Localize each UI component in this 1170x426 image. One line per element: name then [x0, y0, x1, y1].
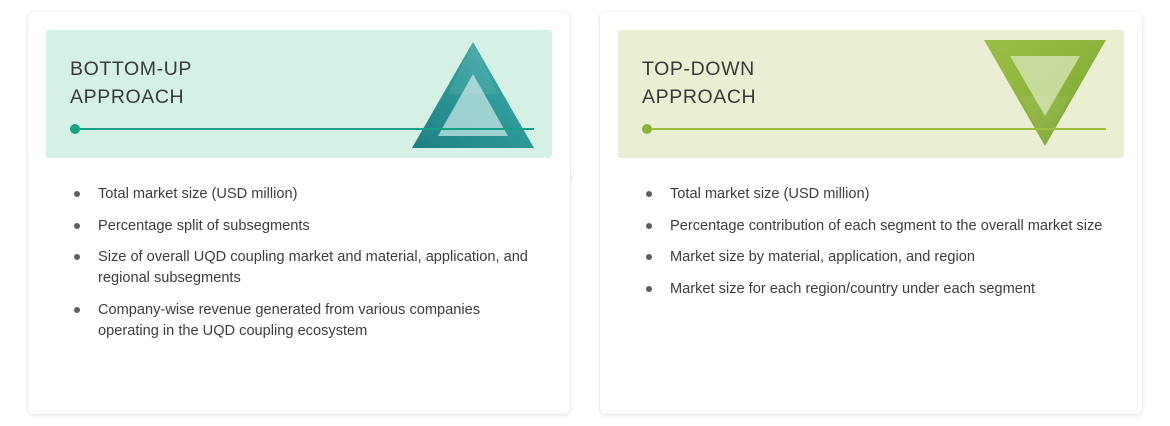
rule-dot-icon	[642, 124, 652, 134]
panel-rule-top-down	[642, 124, 1106, 134]
rule-line	[80, 128, 534, 130]
list-item: Market size for each region/country unde…	[646, 279, 1114, 300]
panel-title-top-down: TOP-DOWN APPROACH	[642, 56, 972, 111]
bullet-icon	[74, 191, 80, 197]
list-item-label: Market size for each region/country unde…	[670, 281, 1035, 297]
triangle-up-icon	[408, 36, 538, 152]
panel-bottom-up: BOTTOM-UP APPROACH Total market size (US…	[28, 12, 570, 414]
list-item-label: Size of overall UQD coupling market and …	[98, 249, 528, 286]
bullet-icon	[646, 223, 652, 229]
bullet-icon	[646, 254, 652, 260]
bullet-icon	[74, 307, 80, 313]
panel-title-bottom-up: BOTTOM-UP APPROACH	[70, 56, 400, 111]
list-item-label: Company-wise revenue generated from vari…	[98, 302, 480, 339]
list-item: Total market size (USD million)	[646, 184, 1114, 205]
list-item: Company-wise revenue generated from vari…	[74, 300, 542, 341]
triangle-down-icon	[980, 36, 1110, 152]
list-item: Market size by material, application, an…	[646, 247, 1114, 268]
list-item: Percentage contribution of each segment …	[646, 216, 1114, 237]
rule-dot-icon	[70, 124, 80, 134]
panel-rule-bottom-up	[70, 124, 534, 134]
list-bottom-up: Total market size (USD million) Percenta…	[46, 158, 552, 352]
list-top-down: Total market size (USD million) Percenta…	[618, 158, 1124, 311]
diagram-canvas: BOTTOM-UP APPROACH Total market size (US…	[0, 0, 1170, 426]
list-item-label: Market size by material, application, an…	[670, 249, 975, 265]
list-item: Total market size (USD million)	[74, 184, 542, 205]
rule-line	[652, 128, 1106, 130]
bullet-icon	[646, 191, 652, 197]
list-item-label: Total market size (USD million)	[670, 186, 870, 202]
list-item-label: Percentage contribution of each segment …	[670, 218, 1102, 234]
list-item: Size of overall UQD coupling market and …	[74, 247, 542, 288]
list-item-label: Percentage split of subsegments	[98, 218, 310, 234]
bullet-icon	[74, 223, 80, 229]
panel-header-bottom-up: BOTTOM-UP APPROACH	[46, 30, 552, 158]
bullet-icon	[646, 286, 652, 292]
list-item: Percentage split of subsegments	[74, 216, 542, 237]
list-item-label: Total market size (USD million)	[98, 186, 298, 202]
bullet-icon	[74, 254, 80, 260]
panel-header-top-down: TOP-DOWN APPROACH	[618, 30, 1124, 158]
panel-top-down: TOP-DOWN APPROACH Total market size (USD…	[600, 12, 1142, 414]
